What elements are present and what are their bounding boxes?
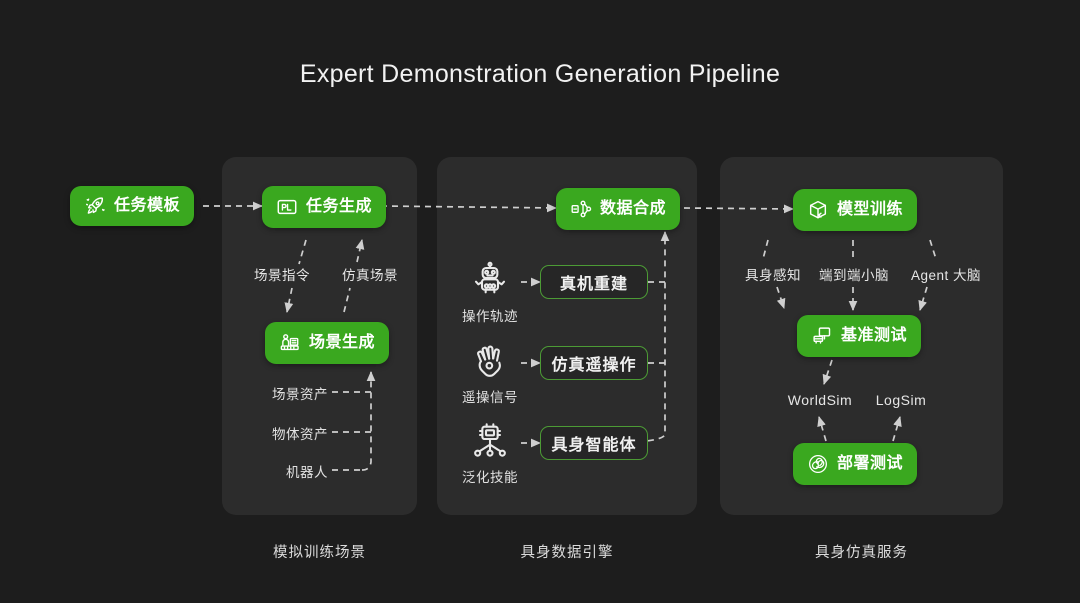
panel-caption-2: 具身数据引擎 xyxy=(437,541,697,562)
node-deployment-test[interactable]: 部署测试 xyxy=(793,443,917,485)
monitor-icon xyxy=(811,325,833,347)
node-label: 模型训练 xyxy=(837,202,903,218)
node-label: 仿真遥操作 xyxy=(551,351,636,375)
train-label-end-to-end: 端到端小脑 xyxy=(808,264,900,284)
node-label: 数据合成 xyxy=(600,201,666,217)
sim-label-logsim: LogSim xyxy=(866,392,936,408)
node-label: 具身智能体 xyxy=(551,431,636,455)
cube-icon xyxy=(807,199,829,221)
node-label: 基准测试 xyxy=(841,328,907,344)
scene-robot-icon xyxy=(279,332,301,354)
edge-label-sim-scene: 仿真场景 xyxy=(328,264,412,284)
node-task-generation[interactable]: 任务生成 xyxy=(262,186,386,228)
page-title: Expert Demonstration Generation Pipeline xyxy=(0,60,1080,89)
node-benchmark-test[interactable]: 基准测试 xyxy=(797,315,921,357)
robot-icon xyxy=(470,260,510,300)
node-simulated-teleoperation[interactable]: 仿真遥操作 xyxy=(540,346,648,380)
source-label-teleop-signal: 遥操信号 xyxy=(450,386,530,406)
panel-caption-3: 具身仿真服务 xyxy=(720,541,1003,562)
glove-icon xyxy=(470,341,510,381)
chip-net-icon xyxy=(470,421,510,461)
asset-label-scene: 场景资产 xyxy=(240,383,328,403)
panel-caption-1: 模拟训练场景 xyxy=(222,541,417,562)
source-label-operation-trajectory: 操作轨迹 xyxy=(450,305,530,325)
node-label: 任务生成 xyxy=(306,199,372,215)
node-label: 部署测试 xyxy=(837,456,903,472)
node-data-synthesis[interactable]: 数据合成 xyxy=(556,188,680,230)
train-label-agent-brain: Agent 大脑 xyxy=(896,264,996,284)
asset-label-object: 物体资产 xyxy=(240,423,328,443)
edge-label-scene-instruction: 场景指令 xyxy=(240,264,324,284)
node-label: 真机重建 xyxy=(560,270,628,294)
sim-label-worldsim: WorldSim xyxy=(776,392,864,408)
train-label-perception: 具身感知 xyxy=(730,264,816,284)
data-sync-icon xyxy=(570,198,592,220)
source-label-generalization-skill: 泛化技能 xyxy=(450,466,530,486)
swirl-icon xyxy=(807,453,829,475)
node-task-template[interactable]: 任务模板 xyxy=(70,186,194,226)
node-embodied-agent[interactable]: 具身智能体 xyxy=(540,426,648,460)
rocket-icon xyxy=(84,195,106,217)
node-scene-generation[interactable]: 场景生成 xyxy=(265,322,389,364)
node-model-training[interactable]: 模型训练 xyxy=(793,189,917,231)
node-real-machine-reconstruction[interactable]: 真机重建 xyxy=(540,265,648,299)
template-frame-icon xyxy=(276,196,298,218)
asset-label-robot: 机器人 xyxy=(240,461,328,481)
node-label: 场景生成 xyxy=(309,335,375,351)
node-label: 任务模板 xyxy=(114,198,180,214)
